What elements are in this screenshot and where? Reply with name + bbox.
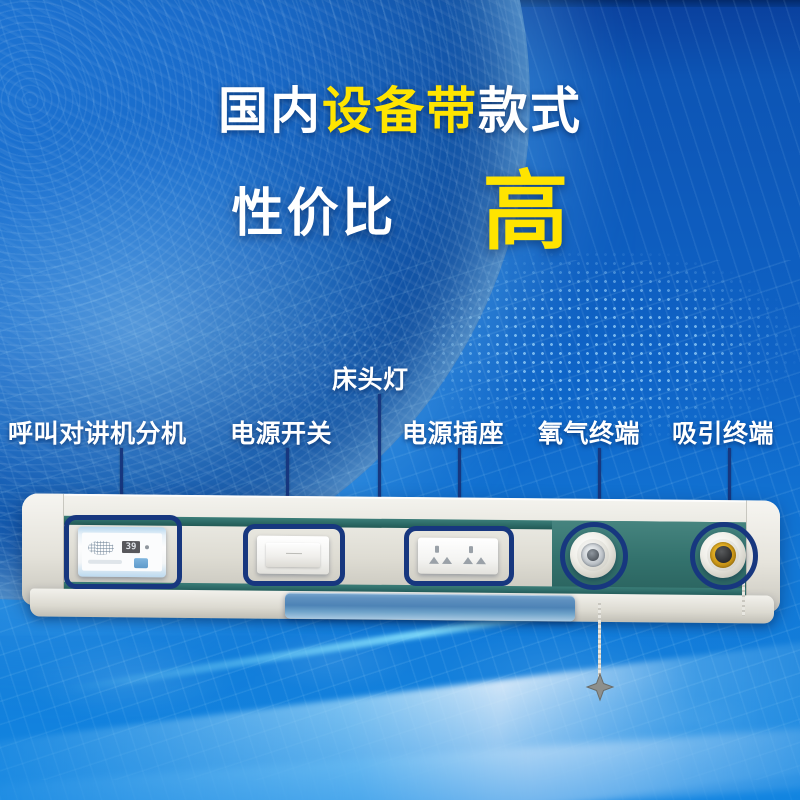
headline-part-2: 设备带: [322, 83, 478, 139]
callout-label-suction: 吸引终端: [672, 414, 774, 450]
subheadline: 性价比 高: [0, 168, 800, 250]
socket-prong-slot: [476, 557, 486, 564]
socket-pin-hole: [469, 546, 473, 553]
intercom-mic-slot: [88, 560, 122, 564]
socket-prong-slot: [463, 557, 473, 564]
headline: 国内设备带款式: [0, 86, 800, 136]
callout-label-power-socket: 电源插座: [402, 414, 504, 450]
subheadline-text: 性价比: [231, 171, 396, 246]
bottom-gradient-fade: [0, 680, 800, 800]
callout-label-intercom: 呼叫对讲机分机: [8, 414, 187, 450]
nurse-call-intercom[interactable]: 39: [78, 527, 166, 578]
oxygen-outlet-port: [587, 549, 599, 561]
socket-prong-slot: [429, 557, 439, 564]
power-switch[interactable]: [257, 536, 329, 575]
intercom-display: 39: [122, 541, 140, 553]
callout-label-oxygen: 氧气终端: [538, 414, 640, 450]
promo-banner: 国内设备带款式 性价比 高 呼叫对讲机分机 电源开关 床头灯 电源插座 氧气终端…: [0, 0, 800, 800]
suction-outlet[interactable]: [700, 532, 746, 578]
headline-part-3: 款式: [478, 83, 582, 139]
oxygen-outlet[interactable]: [570, 532, 616, 578]
power-socket[interactable]: [418, 538, 498, 575]
pull-cord[interactable]: [598, 600, 601, 678]
callout-label-bedside-lamp: 床头灯: [332, 360, 409, 396]
headline-part-1: 国内: [218, 83, 322, 139]
indicator-led-icon: [145, 545, 149, 549]
pull-cord-short[interactable]: [742, 582, 745, 616]
bedside-lamp-tube[interactable]: [285, 593, 575, 622]
switch-marking: [286, 553, 302, 554]
pull-cord-handle-icon[interactable]: [585, 672, 615, 702]
callout-label-power-switch: 电源开关: [230, 414, 332, 450]
socket-pin-hole: [435, 546, 439, 553]
switch-rocker[interactable]: [266, 543, 320, 568]
intercom-faceplate: 39: [82, 533, 162, 572]
intercom-call-button[interactable]: [134, 558, 148, 568]
subheadline-emphasis: 高: [483, 172, 569, 254]
speaker-grille-icon: [88, 541, 114, 555]
suction-outlet-port: [715, 546, 732, 563]
socket-prong-slot: [442, 557, 452, 564]
